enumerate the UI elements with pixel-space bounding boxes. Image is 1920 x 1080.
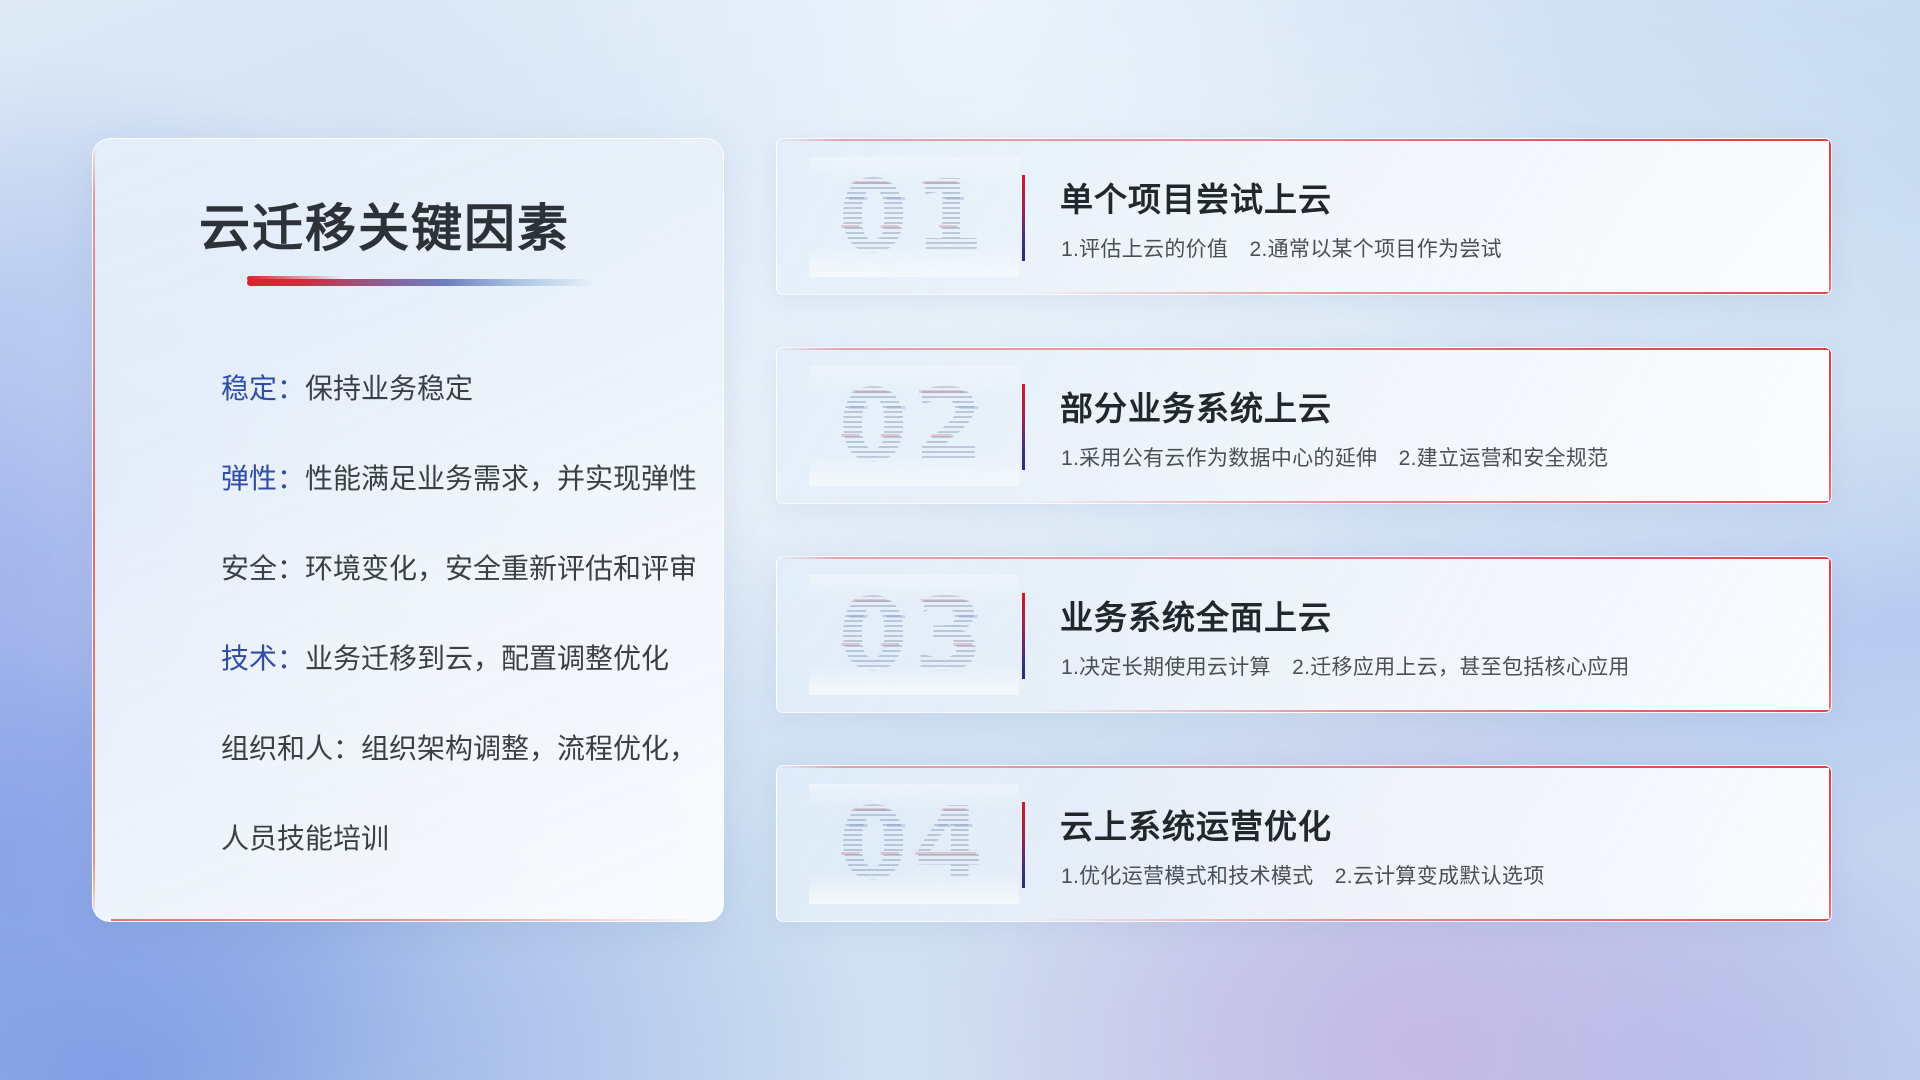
card-description: 1.采用公有云作为数据中心的延伸 2.建立运营和安全规范 bbox=[1061, 442, 1608, 472]
factor-item-stability: 稳定：保持业务稳定 bbox=[221, 375, 697, 403]
card-title: 业务系统全面上云 bbox=[1060, 591, 1332, 639]
factor-item-elasticity: 弹性：性能满足业务需求，并实现弹性 bbox=[221, 465, 697, 493]
stage-number-fade bbox=[809, 366, 1019, 486]
card-bottom-accent bbox=[1030, 501, 1831, 503]
title-underline-rule bbox=[247, 279, 591, 286]
stage-card-03[interactable]: 03 03 03 业务系统全面上云 1.决定长期使用云计算 2.迁移应用上云，甚… bbox=[776, 556, 1832, 713]
stage-number-fade bbox=[809, 784, 1019, 904]
card-right-accent bbox=[1829, 139, 1831, 294]
card-description: 1.优化运营模式和技术模式 2.云计算变成默认选项 bbox=[1061, 860, 1545, 890]
card-title-accent-bar bbox=[1022, 175, 1025, 261]
factor-item-technology: 技术：业务迁移到云，配置调整优化 bbox=[221, 645, 697, 673]
card-title-accent-bar bbox=[1022, 593, 1025, 679]
factor-label: 稳定： bbox=[221, 373, 305, 404]
key-factors-panel: 云迁移关键因素 稳定：保持业务稳定 弹性：性能满足业务需求，并实现弹性 安全：环… bbox=[92, 138, 724, 922]
card-top-accent bbox=[777, 557, 1831, 559]
factor-text: 性能满足业务需求，并实现弹性 bbox=[305, 463, 697, 494]
stage-card-02[interactable]: 02 02 02 部分业务系统上云 1.采用公有云作为数据中心的延伸 2.建立运… bbox=[776, 347, 1832, 504]
factor-item-organization: 组织和人：组织架构调整，流程优化， bbox=[221, 735, 697, 763]
factor-text: 环境变化，安全重新评估和评审 bbox=[305, 553, 697, 584]
card-right-accent bbox=[1829, 766, 1831, 921]
panel-bottom-accent-bar bbox=[111, 919, 705, 921]
stage-number-fade bbox=[809, 157, 1019, 277]
stage-card-01[interactable]: 01 01 01 单个项目尝试上云 1.评估上云的价值 2.通常以某个项目作为尝… bbox=[776, 138, 1832, 295]
card-right-accent bbox=[1829, 557, 1831, 712]
card-right-accent bbox=[1829, 348, 1831, 503]
stage-card-list: 01 01 01 单个项目尝试上云 1.评估上云的价值 2.通常以某个项目作为尝… bbox=[776, 138, 1832, 922]
stage-number-glyph: 01 01 01 bbox=[809, 157, 1019, 277]
card-title: 云上系统运营优化 bbox=[1060, 800, 1332, 848]
card-title: 部分业务系统上云 bbox=[1060, 382, 1332, 430]
card-title: 单个项目尝试上云 bbox=[1060, 173, 1332, 221]
stage-card-04[interactable]: 04 04 04 云上系统运营优化 1.优化运营模式和技术模式 2.云计算变成默… bbox=[776, 765, 1832, 922]
stage-number-glyph: 02 02 02 bbox=[809, 366, 1019, 486]
factor-label: 弹性： bbox=[221, 463, 305, 494]
card-top-accent bbox=[777, 766, 1831, 768]
factor-list: 稳定：保持业务稳定 弹性：性能满足业务需求，并实现弹性 安全：环境变化，安全重新… bbox=[221, 375, 697, 853]
card-bottom-accent bbox=[1030, 710, 1831, 712]
panel-left-accent-bar bbox=[93, 139, 95, 921]
stage-number-glyph: 03 03 03 bbox=[809, 575, 1019, 695]
card-title-accent-bar bbox=[1022, 802, 1025, 888]
factor-text: 组织架构调整，流程优化， bbox=[361, 733, 697, 764]
card-top-accent bbox=[777, 139, 1831, 141]
factor-label: 组织和人： bbox=[221, 733, 361, 764]
factor-item-organization-cont: 人员技能培训 bbox=[221, 825, 697, 853]
card-title-accent-bar bbox=[1022, 384, 1025, 470]
slide-canvas: 云迁移关键因素 稳定：保持业务稳定 弹性：性能满足业务需求，并实现弹性 安全：环… bbox=[0, 0, 1920, 1080]
stage-number-fade bbox=[809, 575, 1019, 695]
card-description: 1.决定长期使用云计算 2.迁移应用上云，甚至包括核心应用 bbox=[1061, 651, 1630, 681]
factor-label: 安全： bbox=[221, 553, 305, 584]
card-bottom-accent bbox=[1030, 292, 1831, 294]
card-bottom-accent bbox=[1030, 919, 1831, 921]
card-description: 1.评估上云的价值 2.通常以某个项目作为尝试 bbox=[1061, 233, 1502, 263]
factor-text: 人员技能培训 bbox=[221, 823, 389, 854]
factor-text: 保持业务稳定 bbox=[305, 373, 473, 404]
page-title: 云迁移关键因素 bbox=[199, 187, 570, 261]
factor-label: 技术： bbox=[221, 643, 305, 674]
factor-text: 业务迁移到云，配置调整优化 bbox=[305, 643, 669, 674]
stage-number-glyph: 04 04 04 bbox=[809, 784, 1019, 904]
card-top-accent bbox=[777, 348, 1831, 350]
factor-item-security: 安全：环境变化，安全重新评估和评审 bbox=[221, 555, 697, 583]
